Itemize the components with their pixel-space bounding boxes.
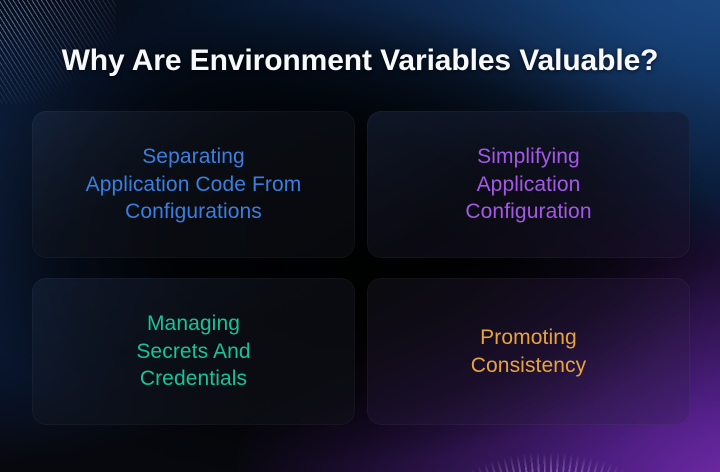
card-label: PromotingConsistency [455, 324, 602, 380]
card-separating-application-code[interactable]: SeparatingApplication Code FromConfigura… [32, 111, 355, 258]
card-label: SimplifyingApplicationConfiguration [449, 143, 607, 227]
card-label: ManagingSecrets AndCredentials [120, 310, 266, 394]
card-label: SeparatingApplication Code FromConfigura… [70, 143, 318, 227]
card-promoting-consistency[interactable]: PromotingConsistency [367, 278, 690, 425]
benefit-card-grid: SeparatingApplication Code FromConfigura… [32, 111, 690, 425]
card-simplifying-application-configuration[interactable]: SimplifyingApplicationConfiguration [367, 111, 690, 258]
card-managing-secrets-and-credentials[interactable]: ManagingSecrets AndCredentials [32, 278, 355, 425]
slide-canvas: Why Are Environment Variables Valuable? … [0, 0, 720, 472]
page-title: Why Are Environment Variables Valuable? [0, 44, 720, 78]
